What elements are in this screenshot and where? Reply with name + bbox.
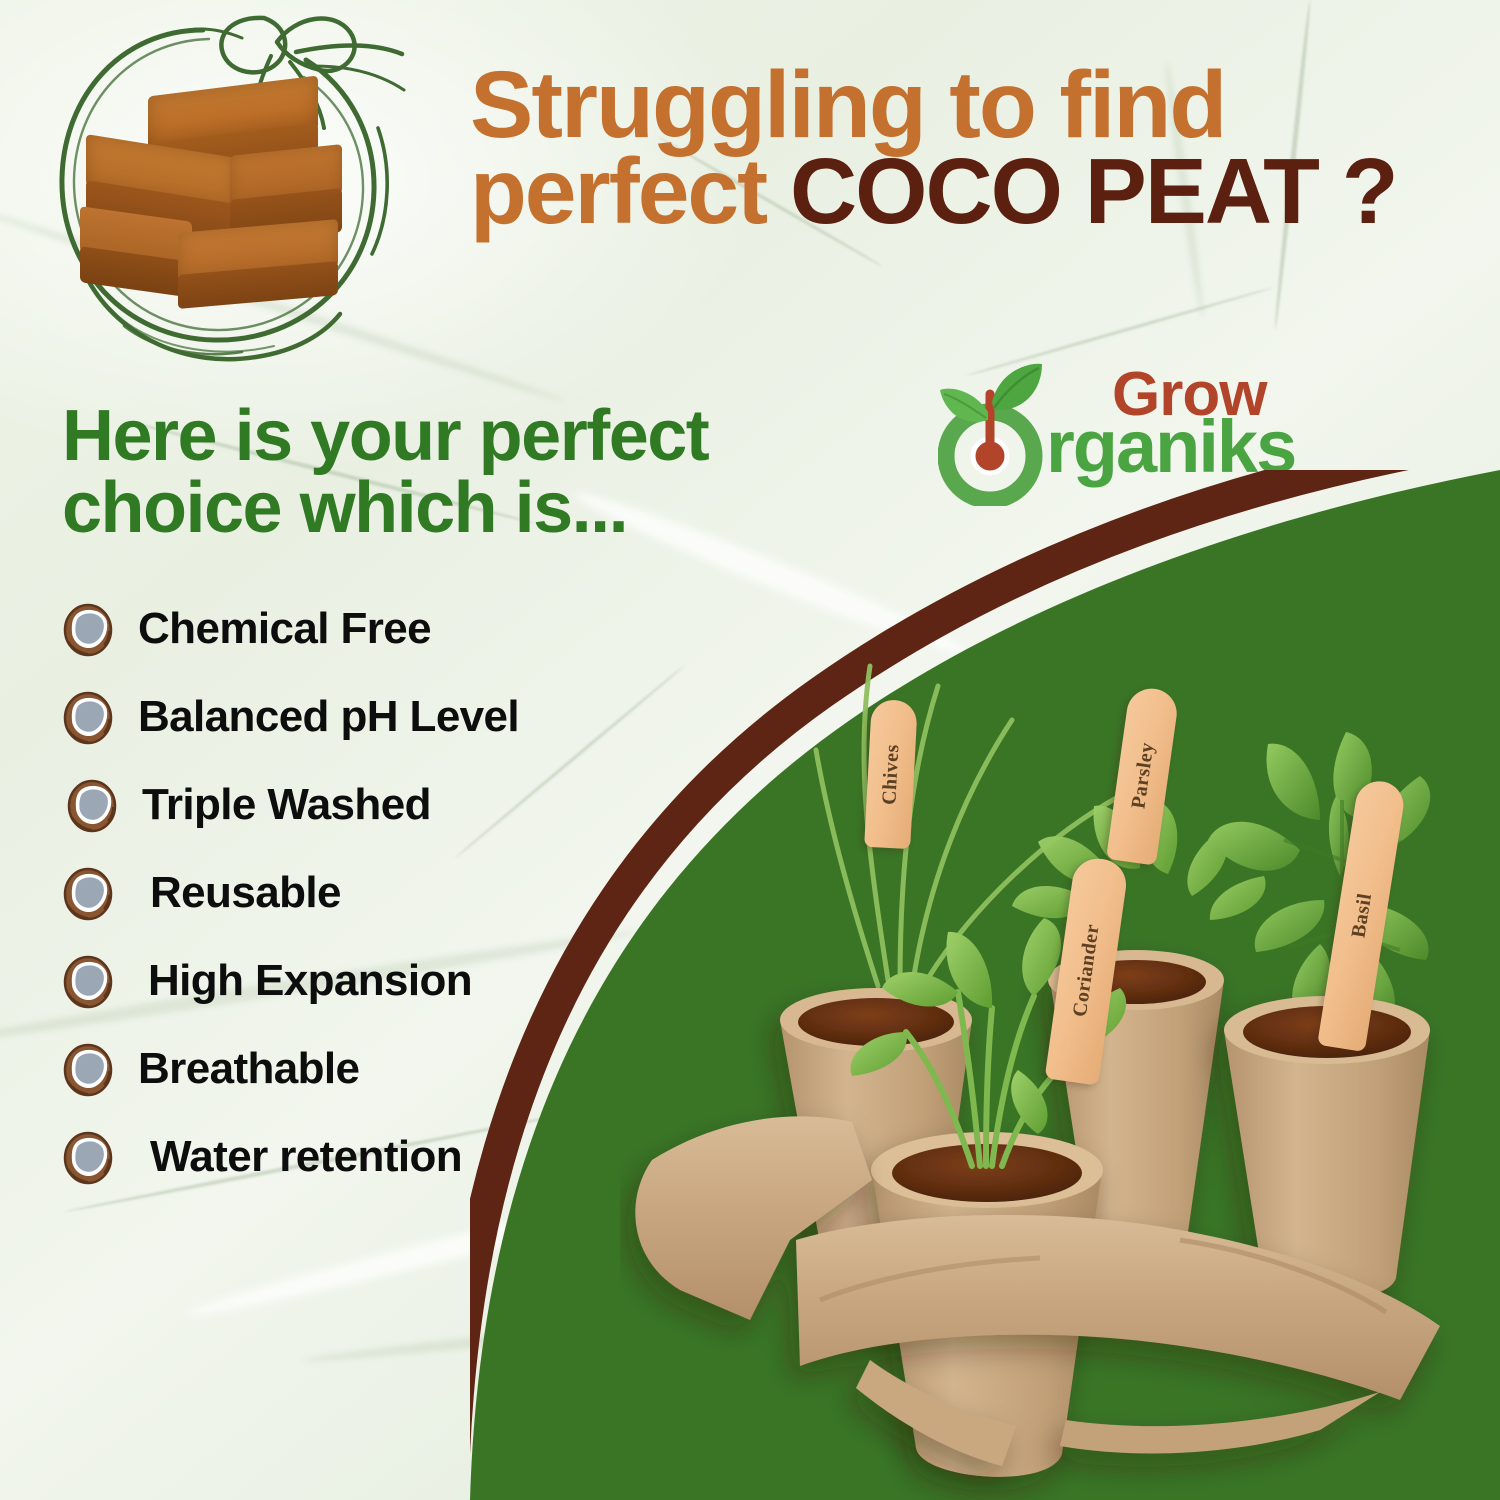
coconut-icon <box>60 1041 116 1097</box>
seedling-tray-photo: Chives Parsley Coriander Basil <box>620 600 1500 1500</box>
plant-marker-label: Parsley <box>1127 741 1159 810</box>
coconut-icon <box>60 601 116 657</box>
headline-line-2: perfect COCO PEAT ? <box>470 149 1480 235</box>
plant-marker-chives: Chives <box>864 699 918 849</box>
headline-line-2-orange: perfect <box>470 139 790 243</box>
feature-label: Balanced pH Level <box>138 692 519 742</box>
headline-line-2-dark: COCO PEAT ? <box>790 139 1397 243</box>
plant-marker-label: Basil <box>1347 891 1377 939</box>
feature-label: Breathable <box>138 1044 359 1094</box>
coconut-icon <box>60 689 116 745</box>
subheading-line-1: Here is your perfect <box>62 400 882 472</box>
feature-label: Water retention <box>150 1132 462 1182</box>
hero-coco-peat-bricks <box>28 8 418 368</box>
feature-label: Chemical Free <box>138 604 431 654</box>
feature-label: Reusable <box>150 868 341 918</box>
coconut-icon <box>60 1129 116 1185</box>
plant-marker-label: Coriander <box>1069 923 1105 1019</box>
feature-label: Triple Washed <box>142 780 431 830</box>
poster-canvas: Struggling to find perfect COCO PEAT ? H… <box>0 0 1500 1500</box>
headline-line-1: Struggling to find <box>470 62 1480 149</box>
feature-label: High Expansion <box>148 956 472 1006</box>
headline: Struggling to find perfect COCO PEAT ? <box>470 62 1480 235</box>
coconut-icon <box>60 865 116 921</box>
coconut-icon <box>60 953 116 1009</box>
plant-marker-label: Chives <box>878 743 904 805</box>
coconut-icon <box>64 777 120 833</box>
coco-peat-brick-stack-image <box>80 86 360 301</box>
